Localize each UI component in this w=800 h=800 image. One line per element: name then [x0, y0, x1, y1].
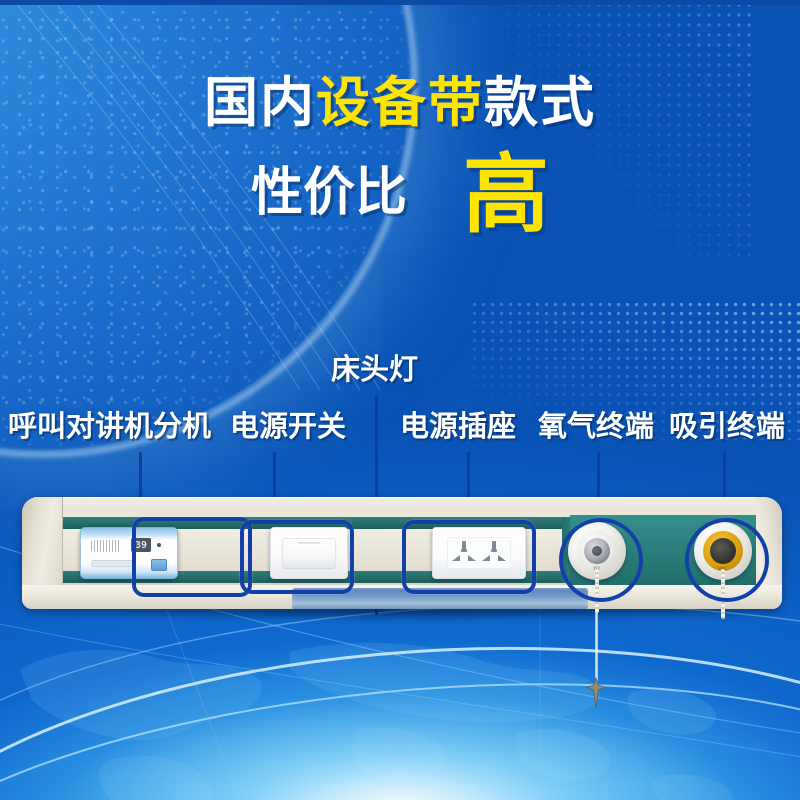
speaker-grille-icon — [91, 540, 121, 552]
callout-label-socket: 电源插座 — [400, 412, 516, 441]
bed-lamp-pull-knob[interactable] — [583, 676, 609, 710]
power-socket[interactable] — [432, 527, 526, 579]
callout-label-switch: 电源开关 — [230, 412, 346, 441]
oxygen-terminal-cord — [595, 569, 599, 613]
headline-1-text-b: 款式 — [484, 71, 596, 134]
intercom-call-button[interactable] — [151, 559, 167, 571]
panel-gloss-strip — [292, 588, 588, 609]
headline-block: 国内设备带款式 性价比高 — [0, 76, 800, 238]
headline-line-2: 性价比高 — [0, 152, 800, 238]
bed-head-unit-panel: 39 — [22, 497, 782, 625]
callout-label-bedlamp: 床头灯 — [331, 355, 418, 384]
top-edge-bar — [0, 0, 800, 5]
power-switch[interactable] — [270, 527, 348, 579]
callout-label-suction: 吸引终端 — [669, 412, 785, 441]
intercom-name-strip — [91, 560, 135, 567]
socket-outlet-left-icon[interactable] — [451, 541, 477, 565]
headline-1-text-a: 国内 — [204, 71, 316, 134]
headline-2-highlight: 高 — [463, 145, 549, 245]
panel-body: 39 — [22, 497, 782, 609]
headline-2-text: 性价比 — [251, 163, 407, 223]
callout-label-intercom: 呼叫对讲机分机 — [8, 412, 211, 441]
headline-1-highlight: 设备带 — [316, 71, 484, 134]
suction-terminal-cord — [721, 569, 725, 619]
panel-drop-shadow — [32, 607, 774, 621]
headline-line-1: 国内设备带款式 — [0, 76, 800, 130]
socket-face-plate — [447, 537, 511, 569]
bed-lamp-pull-cord[interactable] — [595, 612, 598, 684]
callout-label-oxygen: 氧气终端 — [538, 412, 654, 441]
intercom-display: 39 — [131, 538, 151, 552]
suction-port-core-icon — [710, 538, 736, 564]
socket-outlet-right-icon[interactable] — [481, 541, 507, 565]
promo-banner: 国内设备带款式 性价比高 呼叫对讲机分机 电源开关 床头灯 电源插座 氧气终端 … — [0, 0, 800, 800]
oxygen-port-core-icon — [584, 538, 610, 564]
switch-rocker-icon[interactable] — [282, 538, 336, 568]
nurse-call-intercom-device[interactable]: 39 — [80, 527, 178, 579]
status-led-icon — [157, 543, 161, 547]
